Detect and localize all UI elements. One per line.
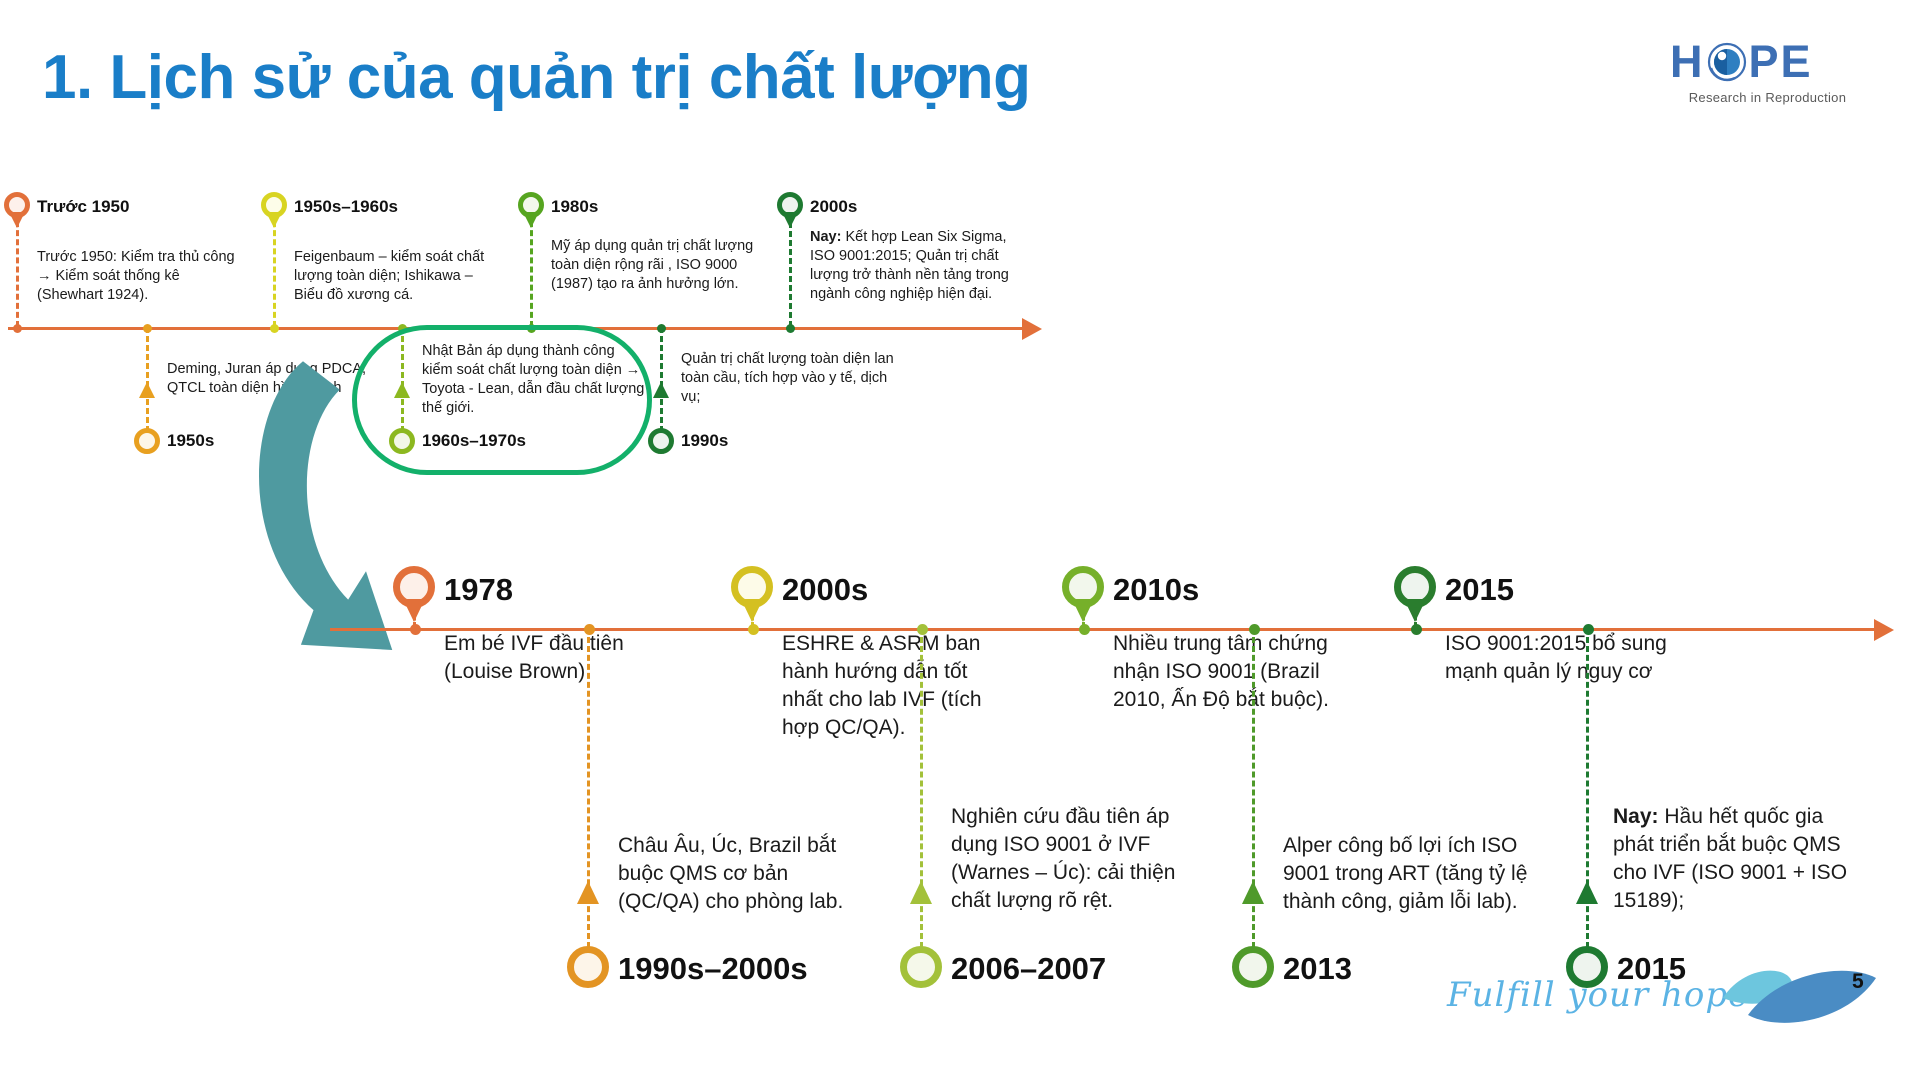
- lower-desc-b1: Nghiên cứu đầu tiên áp dụng ISO 9001 ở I…: [951, 803, 1201, 915]
- page-number: 5: [1852, 970, 1864, 994]
- lower-axis-dot-2: [1079, 624, 1090, 635]
- upper-connector-0: [16, 212, 19, 327]
- lower-pin-label-b2: 2013: [1283, 951, 1352, 987]
- lower-desc-b0: Châu Âu, Úc, Brazil bắt buộc QMS cơ bản …: [618, 832, 868, 916]
- upper-desc-bold-3: Nay:: [810, 229, 841, 245]
- page-title: 1. Lịch sử của quản trị chất lượng: [42, 42, 1030, 113]
- lower-desc-text-1: ESHRE & ASRM ban hành hướng dẫn tốt nhất…: [782, 632, 982, 739]
- upper-desc-text-2: Mỹ áp dụng quản trị chất lượng toàn diện…: [551, 238, 753, 292]
- upper-pin-label-b0: 1950s: [167, 431, 214, 451]
- upper-axis-dot-1: [270, 324, 279, 333]
- lower-desc-text-b1: Nghiên cứu đầu tiên áp dụng ISO 9001 ở I…: [951, 805, 1175, 912]
- lower-axis-dot-1: [748, 624, 759, 635]
- upper-connector-2: [530, 212, 533, 327]
- upper-pin-label-1: 1950s–1960s: [294, 197, 398, 217]
- footer-slogan: Fulfill your hope: [1447, 975, 1749, 1015]
- upper-connector-b0: [146, 327, 149, 432]
- lower-pin-label-3: 2015: [1445, 572, 1514, 608]
- upper-connector-3: [789, 222, 792, 327]
- lower-pin-label-2: 2010s: [1113, 572, 1199, 608]
- lower-desc-3: ISO 9001:2015 bổ sung mạnh quản lý nguy …: [1445, 630, 1700, 686]
- upper-connector-b2: [660, 327, 663, 432]
- upper-axis-dot-b2: [657, 324, 666, 333]
- lower-desc-text-2: Nhiều trung tâm chứng nhận ISO 9001 (Bra…: [1113, 632, 1329, 711]
- upper-pin-label-b2: 1990s: [681, 431, 728, 451]
- upper-axis-dot-b0: [143, 324, 152, 333]
- upper-desc-1: Feigenbaum – kiểm soát chất lượng toàn d…: [294, 248, 499, 305]
- lower-axis-dot-3: [1411, 624, 1422, 635]
- upper-timeline-axis-arrow: [1022, 318, 1042, 340]
- hope-logo-tagline: Research in Reproduction: [1670, 90, 1865, 105]
- lower-axis-dot-0: [410, 624, 421, 635]
- lower-desc-text-b0: Châu Âu, Úc, Brazil bắt buộc QMS cơ bản …: [618, 834, 843, 913]
- lower-desc-text-b2: Alper công bố lợi ích ISO 9001 trong ART…: [1283, 834, 1527, 913]
- upper-desc-3: Nay: Kết hợp Lean Six Sigma, ISO 9001:20…: [810, 228, 1020, 304]
- upper-pin-label-3: 2000s: [810, 197, 857, 217]
- lower-axis-dot-b0: [584, 624, 595, 635]
- lower-pin-label-1: 2000s: [782, 572, 868, 608]
- upper-desc-b2: Quản trị chất lượng toàn diện lan toàn c…: [681, 350, 901, 407]
- lower-desc-b2: Alper công bố lợi ích ISO 9001 trong ART…: [1283, 832, 1538, 916]
- lower-desc-1: ESHRE & ASRM ban hành hướng dẫn tốt nhất…: [782, 630, 1012, 742]
- upper-desc-text-b2: Quản trị chất lượng toàn diện lan toàn c…: [681, 351, 894, 405]
- upper-desc-0: Trước 1950: Kiểm tra thủ công → Kiểm soá…: [37, 248, 237, 305]
- upper-desc-text-0: Trước 1950: Kiểm tra thủ công → Kiểm soá…: [37, 249, 235, 303]
- upper-desc-text-1: Feigenbaum – kiểm soát chất lượng toàn d…: [294, 249, 484, 303]
- upper-desc-2: Mỹ áp dụng quản trị chất lượng toàn diện…: [551, 237, 761, 294]
- hope-logo-wordmark: H PE: [1670, 38, 1865, 86]
- lower-desc-b3: Nay: Hầu hết quốc gia phát triển bắt buộ…: [1613, 803, 1863, 915]
- lower-desc-2: Nhiều trung tâm chứng nhận ISO 9001 (Bra…: [1113, 630, 1338, 714]
- lower-axis-dot-b3: [1583, 624, 1594, 635]
- lower-timeline-axis-arrow: [1874, 619, 1894, 641]
- lower-desc-text-3: ISO 9001:2015 bổ sung mạnh quản lý nguy …: [1445, 632, 1667, 683]
- lower-desc-text-0: Em bé IVF đầu tiên (Louise Brown): [444, 632, 624, 683]
- eye-icon: [1705, 40, 1749, 84]
- upper-pin-label-2: 1980s: [551, 197, 598, 217]
- lower-pin-label-0: 1978: [444, 572, 513, 608]
- upper-connector-1: [273, 212, 276, 327]
- slide-root: 1. Lịch sử của quản trị chất lượng H PE …: [0, 0, 1920, 1080]
- lower-desc-bold-b3: Nay:: [1613, 805, 1659, 828]
- upper-pin-label-0: Trước 1950: [37, 197, 129, 217]
- lower-desc-0: Em bé IVF đầu tiên (Louise Brown): [444, 630, 664, 686]
- lower-axis-dot-b2: [1249, 624, 1260, 635]
- hope-logo: H PE Research in Reproduction: [1670, 38, 1865, 116]
- lower-axis-dot-b1: [917, 624, 928, 635]
- upper-axis-dot-3: [786, 324, 795, 333]
- upper-axis-dot-0: [13, 324, 22, 333]
- lower-pin-label-b1: 2006–2007: [951, 951, 1106, 987]
- hope-logo-letters-pe: PE: [1749, 38, 1813, 86]
- lower-pin-label-b0: 1990s–2000s: [618, 951, 808, 987]
- hope-logo-letter-h: H: [1670, 38, 1705, 86]
